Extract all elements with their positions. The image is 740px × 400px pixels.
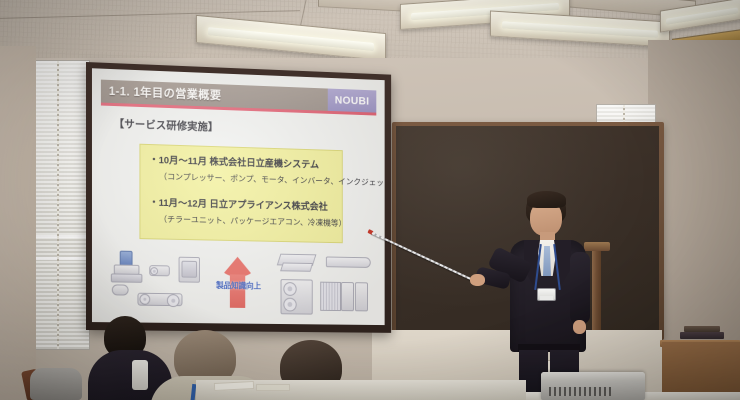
condenser-fan-icon [283, 298, 296, 312]
chiller-unit-icon [341, 282, 354, 311]
presenter-name-badge [537, 288, 556, 301]
cabinet-panel-icon [181, 261, 197, 278]
slide-highlight-box: ・10月～11月 株式会社日立産機システム （コンプレッサー、ポンプ、モータ、イ… [139, 144, 342, 244]
presenter-arm-left [570, 252, 590, 324]
projection-surface: 1-1. 1年目の営業概要 NOUBI 【サービス研修実施】 ・10月～11月 … [92, 68, 385, 325]
presenter-hair-top [527, 191, 566, 208]
audience-1-collar [132, 360, 148, 390]
chiller-coil-icon [320, 282, 341, 311]
presenter [470, 192, 620, 400]
slide-title: 1-1. 1年目の営業概要 [109, 83, 221, 103]
projection-screen: 1-1. 1年目の営業概要 NOUBI 【サービス研修実施】 ・10月～11月 … [86, 62, 391, 333]
arrow-label: 製品知識向上 [204, 280, 273, 292]
condenser-fan-icon [283, 282, 296, 296]
industrial-equipment-icons [106, 248, 212, 319]
logo-text: NOUBI [335, 94, 369, 107]
motor-fan-icon [167, 294, 180, 307]
blind-cord[interactable] [57, 61, 59, 349]
chair-back [30, 368, 82, 400]
projector-vent [549, 387, 611, 396]
compressor-wheel-icon [150, 267, 158, 275]
projector[interactable] [541, 372, 645, 400]
bullet-1-line: ・10月～11月 株式会社日立産機システム [149, 152, 319, 171]
slide-illustration-band: 製品知識向上 [106, 248, 374, 321]
bullet-1-detail: （コンプレッサー、ポンプ、モータ、インバータ、インクジェットプリンタ等） [159, 170, 385, 189]
ceiling-cassette-icon [280, 263, 313, 272]
seminar-room-photo: 1-1. 1年目の営業概要 NOUBI 【サービス研修実施】 ・10月～11月 … [0, 0, 740, 400]
book[interactable] [684, 326, 720, 332]
chiller-unit-icon [355, 282, 368, 311]
book[interactable] [680, 332, 724, 339]
noubi-logo: NOUBI [328, 89, 377, 113]
air-conditioning-equipment-icons [277, 252, 380, 322]
slide-section-heading: 【サービス研修実施】 [114, 116, 219, 134]
bullet-2-line: ・11月～12月 日立アプライアンス株式会社 [149, 195, 328, 213]
presenter-tie [543, 246, 551, 276]
wall-mounted-ac-icon [326, 256, 371, 267]
presenter-hand-left [573, 320, 586, 334]
window-light [35, 61, 89, 349]
window-with-blinds [34, 60, 90, 350]
motor-fan-icon [139, 294, 150, 305]
projector-top [541, 372, 645, 381]
pump-base-icon [111, 273, 143, 282]
left-wall-column [0, 46, 36, 400]
handout-paper[interactable] [256, 384, 290, 391]
pump-motor-icon [120, 251, 133, 266]
blind-slat [35, 235, 89, 238]
presenter-hand-right [470, 274, 485, 286]
bullet-2-detail: （チラーユニット、パッケージエアコン、冷凍機等） [159, 213, 346, 229]
blower-icon [112, 284, 129, 295]
blind-slat [35, 257, 89, 260]
presentation-slide: 1-1. 1年目の営業概要 NOUBI 【サービス研修実施】 ・10月～11月 … [92, 68, 385, 325]
